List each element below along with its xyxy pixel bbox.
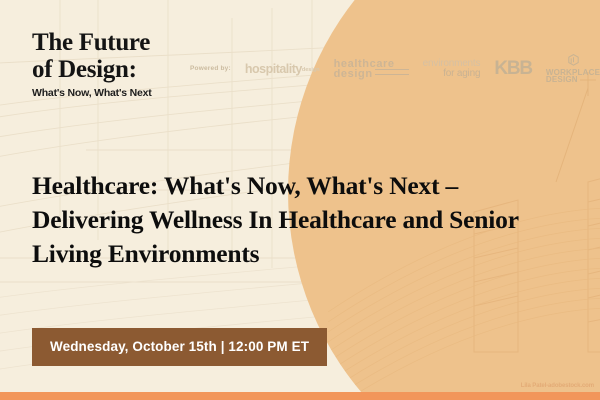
healthcare-design-logo-line-2: design	[334, 68, 373, 80]
bottom-accent-bar	[0, 392, 600, 400]
healthcare-design-logo-rule	[375, 69, 409, 75]
photo-credit: Lila Patel-adobestock.com	[521, 383, 594, 389]
headline-title: Healthcare: What's Now, What's Next – De…	[32, 169, 532, 271]
environments-for-aging-logo-line-2: for aging	[423, 69, 481, 79]
hospitality-design-logo: hospitalitydesign	[245, 62, 320, 76]
webinar-promo-banner: The Future of Design: What's Now, What's…	[0, 0, 600, 400]
brand-lockup: The Future of Design: What's Now, What's…	[32, 30, 152, 99]
cube-icon	[568, 54, 579, 66]
brand-subtitle: What's Now, What's Next	[32, 87, 152, 99]
workplace-design-logo: WORKPLACE DESIGN	[546, 54, 600, 84]
workplace-design-logo-line-2: DESIGN	[546, 76, 600, 84]
healthcare-design-logo: healthcare design	[334, 59, 409, 79]
event-date-badge: Wednesday, October 15th | 12:00 PM ET	[32, 328, 327, 366]
powered-by-label: Powered by:	[190, 65, 231, 72]
hospitality-design-logo-main: hospitality	[245, 62, 302, 76]
brand-title-line-2: of Design:	[32, 57, 152, 82]
hospitality-design-logo-sup: design	[302, 67, 320, 73]
environments-for-aging-logo: environments for aging	[423, 59, 481, 78]
brand-title-line-1: The Future	[32, 30, 152, 55]
powered-by-logo-strip: Powered by: hospitalitydesign healthcare…	[190, 54, 600, 84]
kbb-logo: KBB	[494, 58, 532, 80]
